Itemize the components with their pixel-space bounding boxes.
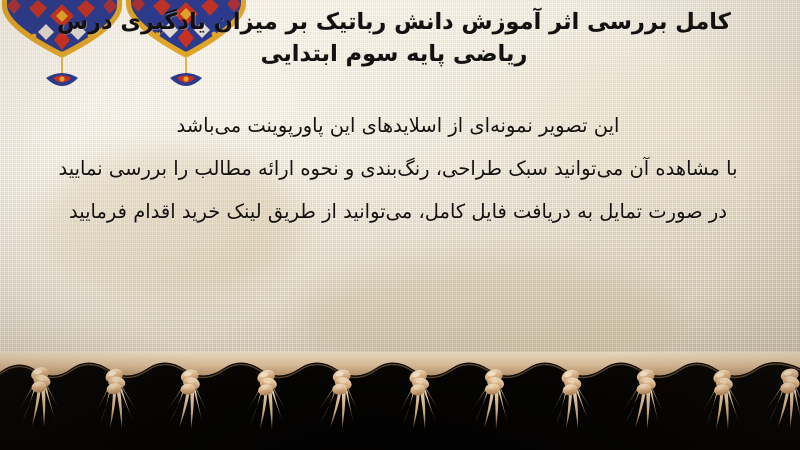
- title-line-1: کامل بررسی اثر آموزش دانش رباتیک بر میزا…: [44, 6, 744, 38]
- slide-title: کامل بررسی اثر آموزش دانش رباتیک بر میزا…: [44, 6, 744, 70]
- fringe-tassels-graphic: [0, 352, 800, 450]
- slide-canvas: کامل بررسی اثر آموزش دانش رباتیک بر میزا…: [0, 0, 800, 450]
- body-line-1: این تصویر نمونه‌ای از اسلایدهای این پاور…: [18, 104, 778, 147]
- body-line-3: در صورت تمایل به دریافت فایل کامل، می‌تو…: [18, 190, 778, 233]
- title-line-2: ریاضی پایه سوم ابتدایی: [44, 38, 744, 70]
- slide-body-text: این تصویر نمونه‌ای از اسلایدهای این پاور…: [18, 104, 778, 233]
- body-line-2: با مشاهده آن می‌توانید سبک طراحی، رنگ‌بن…: [18, 147, 778, 190]
- carpet-fringe-band: [0, 352, 800, 450]
